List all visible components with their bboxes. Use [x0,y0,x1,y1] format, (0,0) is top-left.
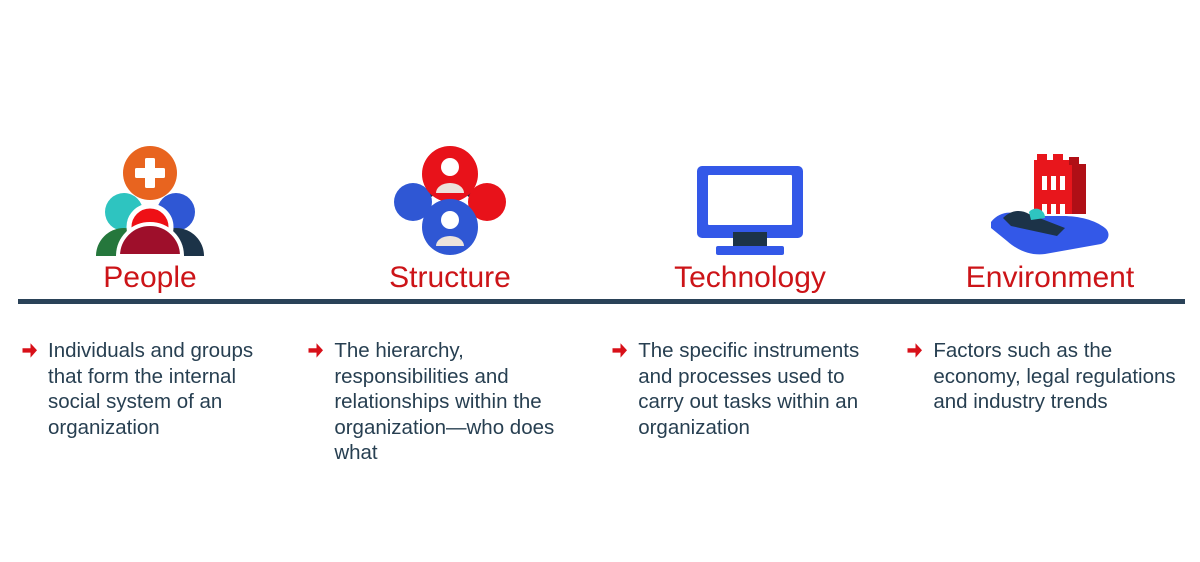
people-group-add-icon [84,144,216,256]
card-title-environment: Environment [966,260,1134,296]
bullet-text-structure: The hierarchy, responsibilities and rela… [334,338,586,466]
column-technology[interactable]: Technology [600,131,900,296]
desktop-monitor-icon [694,164,806,256]
icon-title-row: People [0,131,1200,296]
horizontal-divider [18,299,1185,304]
people-icon-wrap [84,138,216,256]
bullet-item-people: Individuals and groups that form the int… [0,338,285,466]
card-title-structure: Structure [389,260,511,296]
structure-icon-wrap [391,138,509,256]
network-structure-icon [391,144,509,256]
column-people[interactable]: People [0,131,300,296]
description-row: Individuals and groups that form the int… [0,338,1200,466]
bullet-text-people: Individuals and groups that form the int… [48,338,280,440]
bullet-item-technology: The specific instruments and processes u… [591,338,885,466]
environment-icon-wrap [987,138,1113,256]
bullet-item-structure: The hierarchy, responsibilities and rela… [285,338,591,466]
red-arrow-bullet-icon [611,340,628,361]
card-title-people: People [103,260,196,296]
infographic-slide: People [0,0,1200,562]
card-title-technology: Technology [674,260,826,296]
technology-icon-wrap [694,138,806,256]
column-environment[interactable]: Environment [900,131,1200,296]
red-arrow-bullet-icon [21,340,38,361]
red-arrow-bullet-icon [906,340,923,361]
building-in-hand-icon [987,146,1113,256]
red-arrow-bullet-icon [307,340,324,361]
bullet-text-environment: Factors such as the economy, legal regul… [933,338,1179,415]
bullet-item-environment: Factors such as the economy, legal regul… [885,338,1200,466]
column-structure[interactable]: Structure [300,131,600,296]
bullet-text-technology: The specific instruments and processes u… [638,338,884,440]
